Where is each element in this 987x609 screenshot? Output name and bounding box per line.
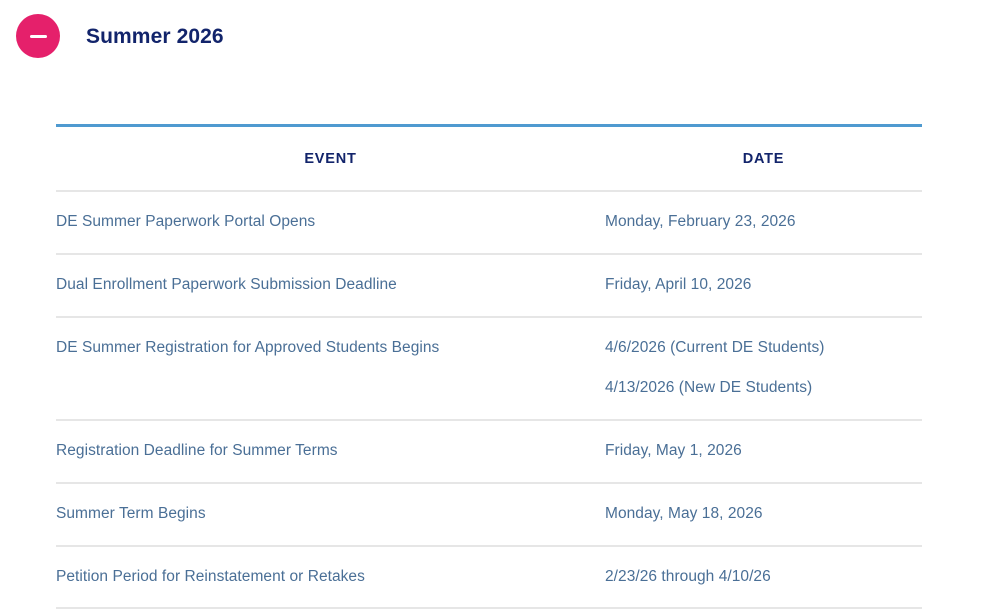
cell-date-line: Friday, May 1, 2026 xyxy=(605,441,922,462)
accordion-title: Summer 2026 xyxy=(86,26,224,47)
academic-calendar-table: EVENT DATE DE Summer Paperwork Portal Op… xyxy=(56,124,922,609)
table-row: Summer Term BeginsMonday, May 18, 2026 xyxy=(56,483,922,546)
cell-date: Friday, May 1, 2026 xyxy=(605,420,922,483)
cell-date-line: Monday, May 18, 2026 xyxy=(605,504,922,525)
cell-date: Friday, April 10, 2026 xyxy=(605,254,922,317)
table-row: DE Summer Registration for Approved Stud… xyxy=(56,317,922,420)
table-row: Petition Period for Reinstatement or Ret… xyxy=(56,546,922,609)
page-root: Summer 2026 EVENT DATE DE Summer Paperwo… xyxy=(0,0,987,582)
cell-event: DE Summer Paperwork Portal Opens xyxy=(56,191,605,254)
table-row: DE Summer Paperwork Portal OpensMonday, … xyxy=(56,191,922,254)
table-body: DE Summer Paperwork Portal OpensMonday, … xyxy=(56,191,922,608)
calendar-table-container: EVENT DATE DE Summer Paperwork Portal Op… xyxy=(56,124,922,609)
cell-date-line: 4/13/2026 (New DE Students) xyxy=(605,378,922,399)
minus-icon[interactable] xyxy=(16,14,60,58)
cell-event: Registration Deadline for Summer Terms xyxy=(56,420,605,483)
table-row: Registration Deadline for Summer TermsFr… xyxy=(56,420,922,483)
cell-date: 2/23/26 through 4/10/26 xyxy=(605,546,922,609)
column-header-event: EVENT xyxy=(56,126,605,192)
cell-event: DE Summer Registration for Approved Stud… xyxy=(56,317,605,420)
cell-date: 4/6/2026 (Current DE Students)4/13/2026 … xyxy=(605,317,922,420)
cell-event: Dual Enrollment Paperwork Submission Dea… xyxy=(56,254,605,317)
cell-date: Monday, May 18, 2026 xyxy=(605,483,922,546)
table-header-row: EVENT DATE xyxy=(56,126,922,192)
cell-date-line: Monday, February 23, 2026 xyxy=(605,212,922,233)
accordion-header-summer-2026[interactable]: Summer 2026 xyxy=(16,14,224,58)
minus-icon-bar xyxy=(30,35,47,38)
cell-event: Petition Period for Reinstatement or Ret… xyxy=(56,546,605,609)
table-row: Dual Enrollment Paperwork Submission Dea… xyxy=(56,254,922,317)
cell-date-line: Friday, April 10, 2026 xyxy=(605,275,922,296)
cell-event: Summer Term Begins xyxy=(56,483,605,546)
column-header-date: DATE xyxy=(605,126,922,192)
cell-date-line: 4/6/2026 (Current DE Students) xyxy=(605,338,922,359)
cell-date-line: 2/23/26 through 4/10/26 xyxy=(605,567,922,588)
cell-date: Monday, February 23, 2026 xyxy=(605,191,922,254)
table-header: EVENT DATE xyxy=(56,126,922,192)
